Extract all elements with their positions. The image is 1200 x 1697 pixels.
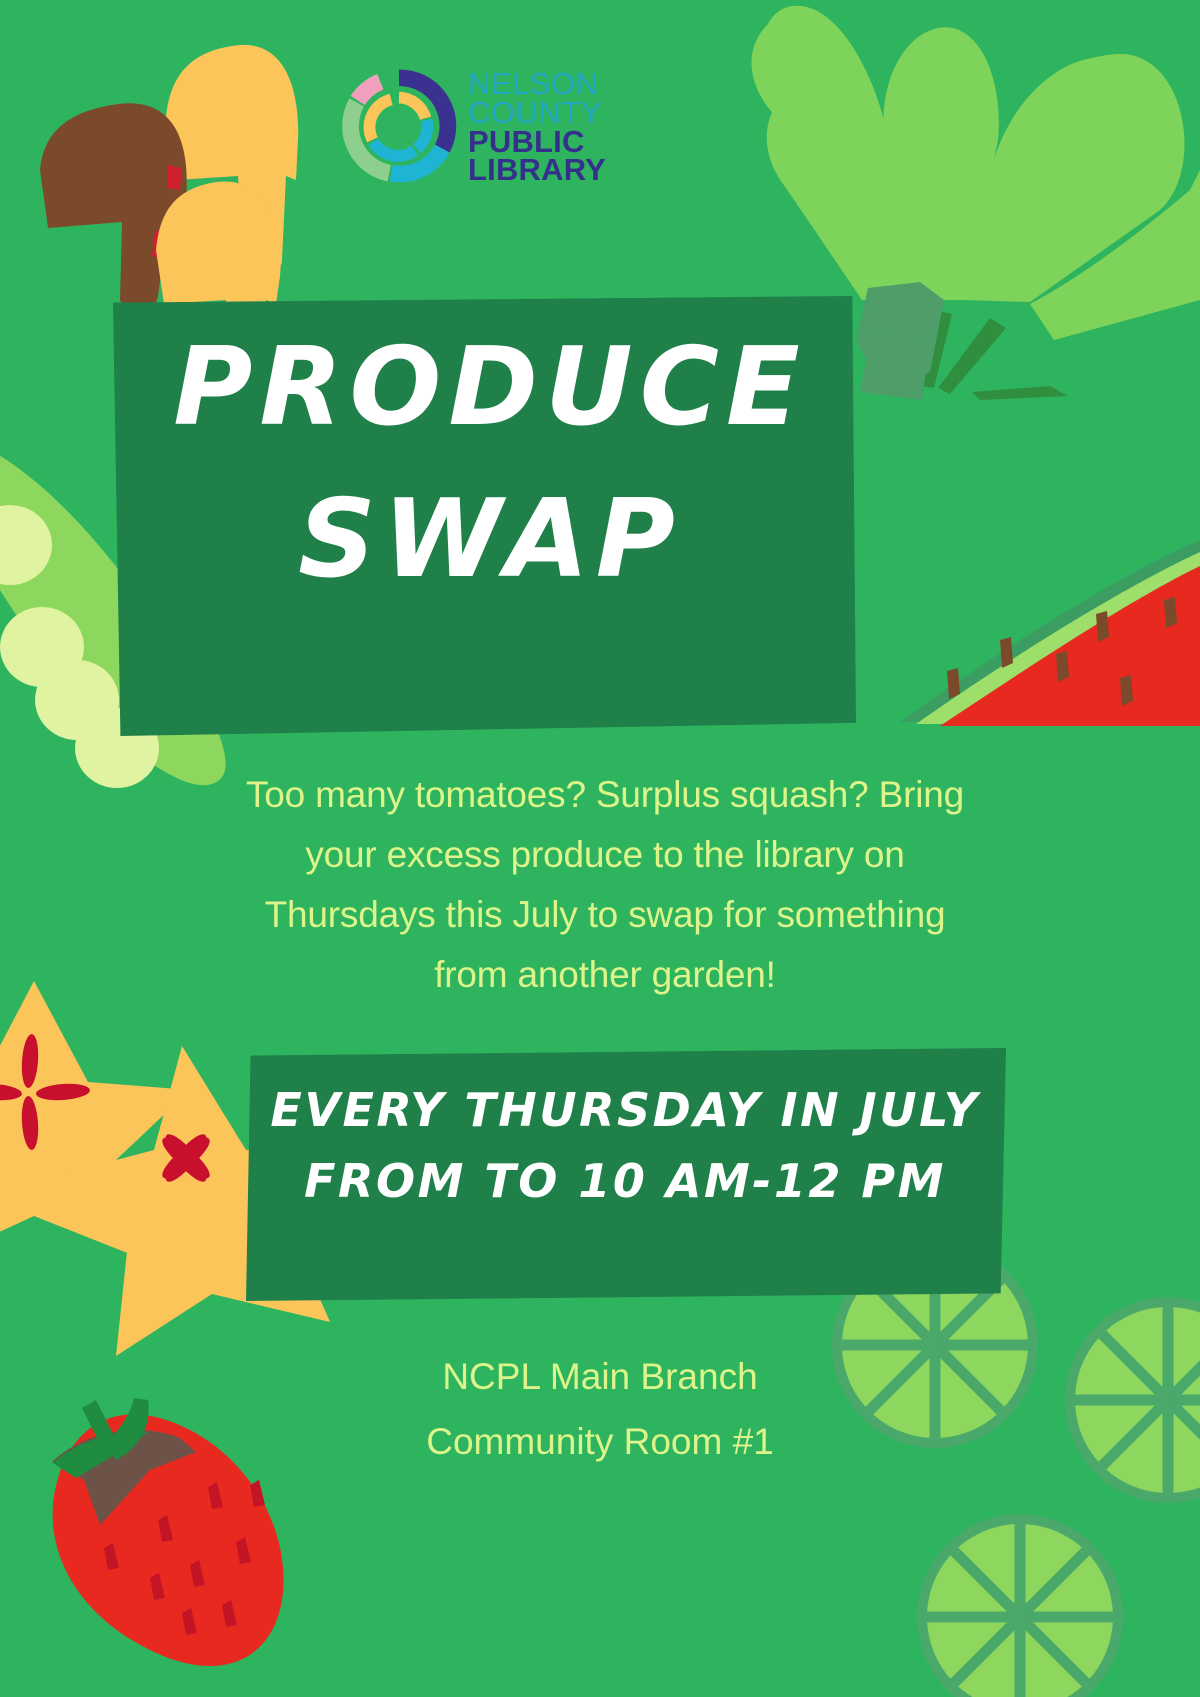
watermelon-slice-illustration bbox=[900, 540, 1200, 726]
watermelon-seed-3 bbox=[1000, 637, 1013, 668]
description-line-1: Too many tomatoes? Surplus squash? Bring bbox=[220, 765, 990, 825]
location-branch: NCPL Main Branch bbox=[250, 1345, 950, 1410]
schedule-day-line: EVERY THURSDAY IN JULY bbox=[250, 1075, 1000, 1146]
mushroom-red-accent-a bbox=[168, 165, 182, 190]
location-room: Community Room #1 bbox=[250, 1410, 950, 1475]
strawberry-seeds bbox=[104, 1480, 265, 1635]
watermelon-seed-2 bbox=[1056, 651, 1069, 682]
pea-3 bbox=[35, 660, 119, 740]
schedule-time-line: FROM TO 10 AM-12 PM bbox=[250, 1146, 1000, 1217]
library-ring-logo-icon bbox=[340, 67, 458, 185]
lime-slice-3 bbox=[917, 1514, 1123, 1697]
library-logo-wordmark: NELSON COUNTY PUBLIC LIBRARY bbox=[468, 66, 606, 184]
greens-stem-1 bbox=[882, 300, 904, 380]
strawberry-body bbox=[53, 1414, 284, 1666]
produce-swap-poster: NELSON COUNTY PUBLIC LIBRARY PRODUCE SWA… bbox=[0, 0, 1200, 1697]
strawberry-stem bbox=[82, 1400, 120, 1456]
watermelon-seed-5 bbox=[1164, 597, 1177, 628]
greens-leaf-left bbox=[752, 6, 900, 300]
title-line-produce: PRODUCE bbox=[120, 330, 860, 447]
star-fruit-1-seeds bbox=[0, 1034, 90, 1151]
greens-leaf-mid bbox=[883, 27, 998, 300]
watermelon-seed-6 bbox=[1120, 675, 1133, 706]
mushroom-yellow-top bbox=[166, 45, 298, 277]
description-line-4: from another garden! bbox=[220, 945, 990, 1005]
mushroom-red-accent-b bbox=[152, 230, 172, 262]
watermelon-rind-light bbox=[916, 552, 1200, 724]
page-title: PRODUCE SWAP bbox=[120, 330, 860, 596]
library-logo: NELSON COUNTY PUBLIC LIBRARY bbox=[340, 58, 640, 193]
lime-slice-2 bbox=[1065, 1297, 1200, 1503]
greens-stem-2 bbox=[922, 310, 952, 388]
greens-stem-4 bbox=[972, 386, 1068, 400]
title-line-swap: SWAP bbox=[120, 483, 860, 596]
greens-leaf-right bbox=[962, 54, 1184, 302]
strawberry-leaf-left bbox=[53, 1432, 148, 1478]
star-fruit-2-seeds bbox=[157, 1129, 215, 1187]
watermelon-seed-4 bbox=[947, 668, 960, 699]
greens-bunch-base bbox=[856, 282, 944, 388]
description-line-3: Thursdays this July to swap for somethin… bbox=[220, 885, 990, 945]
watermelon-flesh bbox=[940, 566, 1200, 726]
greens-bunch-base-2 bbox=[860, 330, 930, 400]
mushroom-brown bbox=[40, 103, 187, 311]
strawberry-leaf-top bbox=[104, 1398, 149, 1460]
watermelon-rind-dark bbox=[900, 540, 1200, 722]
schedule-details: EVERY THURSDAY IN JULY FROM TO 10 AM-12 … bbox=[250, 1075, 1000, 1218]
pea-1 bbox=[0, 505, 52, 585]
greens-stem-3 bbox=[938, 318, 1006, 394]
description-paragraph: Too many tomatoes? Surplus squash? Bring… bbox=[220, 765, 990, 1005]
strawberry-leaf-shadow bbox=[52, 1430, 196, 1525]
watermelon-seed-1 bbox=[1096, 611, 1109, 642]
pea-2 bbox=[0, 607, 84, 687]
greens-leaf-far-right bbox=[1030, 170, 1200, 340]
description-line-2: your excess produce to the library on bbox=[220, 825, 990, 885]
strawberry-illustration bbox=[52, 1398, 284, 1666]
star-fruit-1 bbox=[0, 981, 190, 1262]
logo-line-library: LIBRARY bbox=[468, 156, 606, 185]
location-details: NCPL Main Branch Community Room #1 bbox=[250, 1345, 950, 1475]
